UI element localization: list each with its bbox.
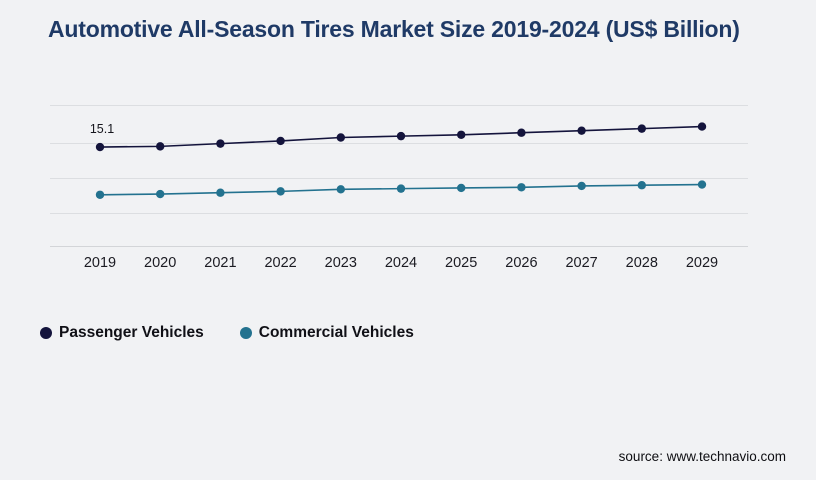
x-tick-label-2029: 2029 [686, 255, 718, 271]
data-point-marker[interactable] [397, 184, 405, 192]
data-point-marker[interactable] [638, 124, 646, 132]
series-layer [50, 100, 748, 250]
data-point-marker[interactable] [638, 181, 646, 189]
data-point-marker[interactable] [577, 126, 585, 134]
x-tick-label-2026: 2026 [505, 255, 537, 271]
data-point-marker[interactable] [577, 182, 585, 190]
series-commercial-vehicles [96, 180, 706, 199]
data-point-marker[interactable] [156, 190, 164, 198]
x-tick-label-2024: 2024 [385, 255, 417, 271]
data-point-marker[interactable] [698, 122, 706, 130]
legend-item-commercial-vehicles[interactable]: Commercial Vehicles [240, 324, 414, 342]
page-title: Automotive All-Season Tires Market Size … [48, 14, 760, 44]
data-point-marker[interactable] [397, 132, 405, 140]
data-point-marker[interactable] [457, 131, 465, 139]
x-tick-label-2022: 2022 [264, 255, 296, 271]
data-point-marker[interactable] [698, 180, 706, 188]
series-passenger-vehicles [96, 122, 706, 151]
data-point-marker[interactable] [276, 137, 284, 145]
x-tick-label-2028: 2028 [626, 255, 658, 271]
data-point-marker[interactable] [156, 142, 164, 150]
source-note: source: www.technavio.com [619, 449, 786, 464]
legend-item-passenger-vehicles[interactable]: Passenger Vehicles [40, 324, 204, 342]
x-tick-label-2019: 2019 [84, 255, 116, 271]
data-point-marker[interactable] [337, 185, 345, 193]
data-point-marker[interactable] [517, 129, 525, 137]
data-point-marker[interactable] [337, 133, 345, 141]
data-point-marker[interactable] [216, 139, 224, 147]
legend-label: Passenger Vehicles [59, 324, 204, 342]
data-point-marker[interactable] [96, 191, 104, 199]
legend-marker-circle-icon [40, 327, 52, 339]
x-axis-tick-labels: 2019202020212022202320242025202620272028… [50, 255, 748, 277]
data-point-marker[interactable] [216, 189, 224, 197]
x-tick-label-2023: 2023 [325, 255, 357, 271]
legend-label: Commercial Vehicles [259, 324, 414, 342]
x-tick-label-2027: 2027 [565, 255, 597, 271]
data-point-label: 15.1 [90, 122, 114, 136]
legend-marker-circle-icon [240, 327, 252, 339]
plot-area: 15.1 [50, 100, 748, 250]
x-tick-label-2025: 2025 [445, 255, 477, 271]
data-point-marker[interactable] [276, 187, 284, 195]
data-point-marker[interactable] [457, 184, 465, 192]
data-point-marker[interactable] [96, 143, 104, 151]
chart-page: Automotive All-Season Tires Market Size … [0, 0, 816, 480]
x-tick-label-2021: 2021 [204, 255, 236, 271]
chart-legend: Passenger VehiclesCommercial Vehicles [40, 324, 450, 342]
data-point-marker[interactable] [517, 183, 525, 191]
x-tick-label-2020: 2020 [144, 255, 176, 271]
